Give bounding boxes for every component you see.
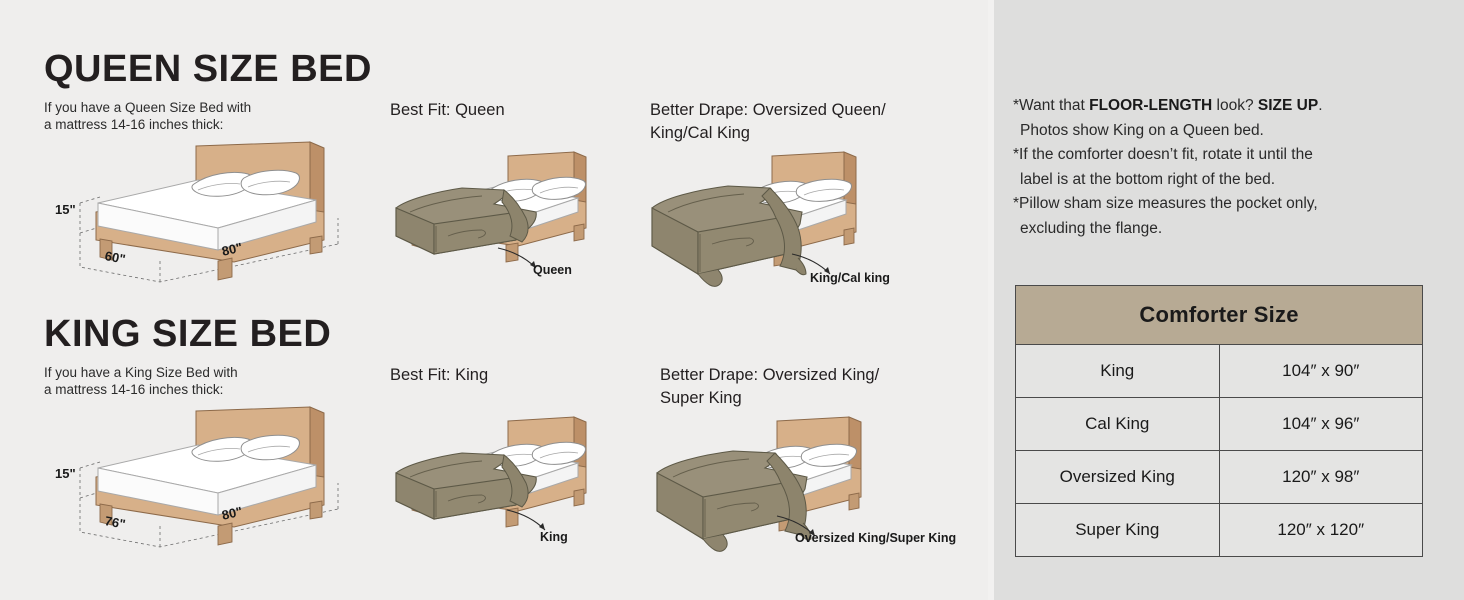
table-cell-size-name: Super King [1016, 504, 1220, 557]
king-best-fit-bed-illustration [378, 415, 618, 545]
note-item: *Want that FLOOR-LENGTH look? SIZE UP. P… [1013, 94, 1443, 143]
table-row: Super King 120″ x 120″ [1016, 504, 1423, 557]
queen-best-fit-callout-label: Queen [533, 263, 572, 277]
table-cell-size-name: Cal King [1016, 398, 1220, 451]
queen-height-dimension: 15" [55, 202, 76, 217]
table-row: King 104″ x 90″ [1016, 345, 1423, 398]
table-cell-size-value: 104″ x 96″ [1219, 398, 1423, 451]
note-lead: *If the comforter doesn’t fit, rotate it… [1013, 146, 1313, 163]
note-item: *Pillow sham size measures the pocket on… [1013, 192, 1443, 241]
table-cell-size-value: 120″ x 98″ [1219, 451, 1423, 504]
note-continuation: excluding the flange. [1013, 217, 1443, 242]
queen-better-drape-caption: Better Drape: Oversized Queen/ King/Cal … [650, 99, 886, 145]
table-header-title: Comforter Size [1016, 286, 1423, 345]
queen-plain-bed-illustration [48, 140, 358, 285]
king-best-fit-callout-label: King [540, 530, 568, 544]
notes-list: *Want that FLOOR-LENGTH look? SIZE UP. P… [1013, 94, 1443, 241]
king-best-fit-caption: Best Fit: King [390, 364, 488, 387]
note-mid: look? [1212, 97, 1258, 114]
table-row: Cal King 104″ x 96″ [1016, 398, 1423, 451]
table-cell-size-name: Oversized King [1016, 451, 1220, 504]
table-row: Oversized King 120″ x 98″ [1016, 451, 1423, 504]
note-lead: *Pillow sham size measures the pocket on… [1013, 195, 1318, 212]
infographic-page: QUEEN SIZE BED If you have a Queen Size … [0, 0, 1464, 600]
table-cell-size-name: King [1016, 345, 1220, 398]
note-tail: . [1318, 97, 1322, 114]
queen-best-fit-caption: Best Fit: Queen [390, 99, 505, 122]
note-continuation: Photos show King on a Queen bed. [1013, 119, 1443, 144]
table-body: King 104″ x 90″ Cal King 104″ x 96″ Over… [1016, 345, 1423, 557]
table-cell-size-value: 120″ x 120″ [1219, 504, 1423, 557]
king-better-drape-callout-label: Oversized King/Super King [795, 531, 956, 545]
queen-section-title: QUEEN SIZE BED [44, 48, 372, 91]
table-cell-size-value: 104″ x 90″ [1219, 345, 1423, 398]
king-height-dimension: 15" [55, 466, 76, 481]
note-continuation: label is at the bottom right of the bed. [1013, 168, 1443, 193]
note-lead: *Want that [1013, 97, 1089, 114]
king-plain-bed-illustration [48, 405, 358, 550]
left-panel: QUEEN SIZE BED If you have a Queen Size … [0, 0, 988, 600]
king-section-title: KING SIZE BED [44, 313, 331, 356]
table-header-row: Comforter Size [1016, 286, 1423, 345]
king-section-subtitle: If you have a King Size Bed with a mattr… [44, 364, 238, 398]
note-bold-size-up: SIZE UP [1258, 97, 1318, 114]
queen-section-subtitle: If you have a Queen Size Bed with a matt… [44, 99, 251, 133]
note-item: *If the comforter doesn’t fit, rotate it… [1013, 143, 1443, 192]
note-bold-floor-length: FLOOR-LENGTH [1089, 97, 1212, 114]
queen-better-drape-callout-label: King/Cal king [810, 271, 890, 285]
king-better-drape-caption: Better Drape: Oversized King/ Super King [660, 364, 879, 410]
comforter-size-table: Comforter Size King 104″ x 90″ Cal King … [1015, 285, 1423, 557]
